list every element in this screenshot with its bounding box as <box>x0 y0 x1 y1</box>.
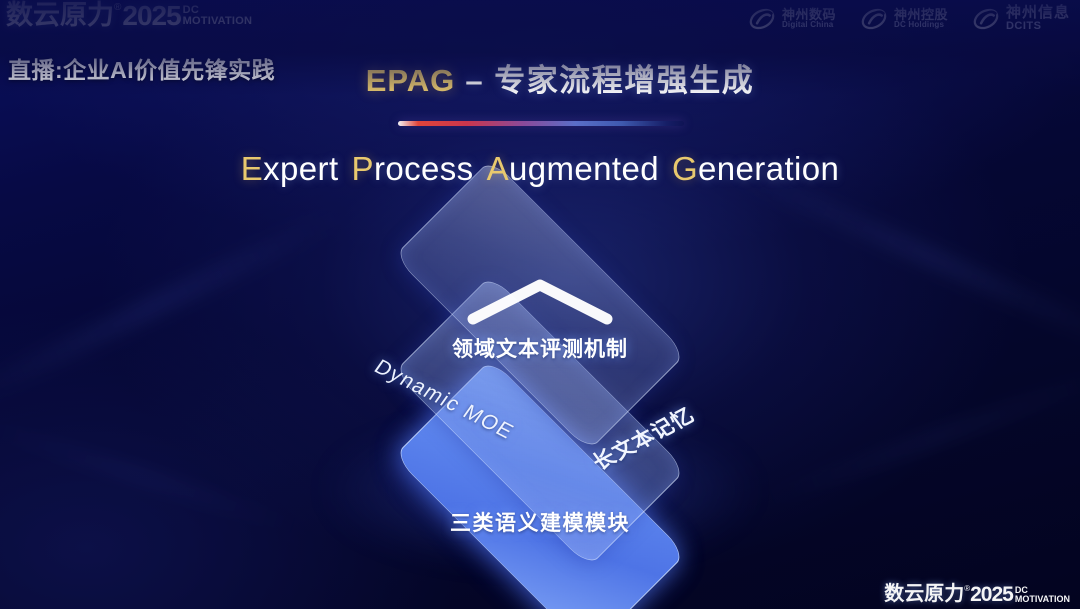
title-divider <box>398 121 684 126</box>
footer-watermark: 数云原力 ® 2025 DC MOTIVATION <box>884 584 1070 605</box>
background-light-streak <box>0 415 313 538</box>
watermark-name-cn: 数云原力 <box>884 584 964 604</box>
subtitle-rest: ugmented <box>509 150 659 187</box>
subtitle-expansion: ExpertProcessAugmentedGeneration <box>0 150 1080 188</box>
header-band <box>0 0 1080 96</box>
subtitle-rest: xpert <box>263 150 338 187</box>
diagram-label-top: 领域文本评测机制 <box>452 333 628 363</box>
subtitle-initial: P <box>352 150 374 187</box>
subtitle-rest: rocess <box>374 150 474 187</box>
subtitle-rest: eneration <box>698 150 839 187</box>
layered-architecture-diagram: 领域文本评测机制 Dynamic MOE 长文本记忆 三类语义建模模块 <box>290 225 790 565</box>
subtitle-initial: E <box>241 150 263 187</box>
watermark-year: 2025 <box>970 584 1013 605</box>
watermark-dc-motivation: DC MOTIVATION <box>1015 586 1070 604</box>
subtitle-initial: G <box>672 150 698 187</box>
chevron-up-icon <box>465 277 615 325</box>
slide-canvas: 数云原力 ® 2025 DC MOTIVATION 直播:企业AI价值先锋实践 … <box>0 0 1080 609</box>
diagram-label-bottom: 三类语义建模模块 <box>450 507 630 537</box>
watermark-dc-line2: MOTIVATION <box>1015 595 1070 604</box>
subtitle-initial: A <box>487 150 509 187</box>
background-light-streak <box>750 362 1080 510</box>
